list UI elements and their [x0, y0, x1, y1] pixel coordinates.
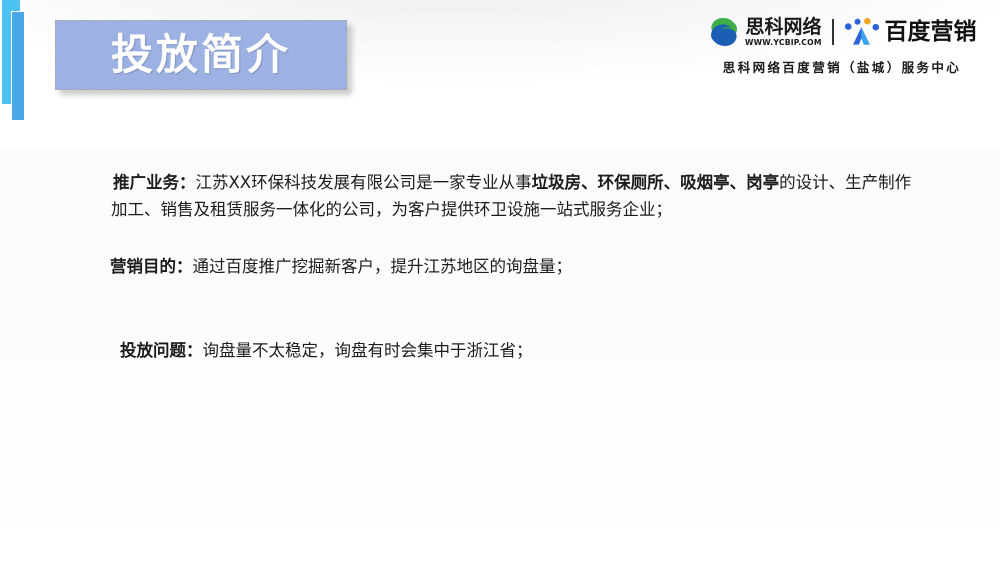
decor-bar-blue [11, 11, 25, 121]
paragraph-2-text: 通过百度推广挖掘新客户，提升江苏地区的询盘量； [193, 257, 573, 276]
paragraph-1-label: 推广业务 [113, 173, 179, 192]
logo-row: 思科网络 WWW.YCBIP.COM 百度营销 [692, 12, 992, 52]
paragraph-1-text-post: 的设计、生产制作 [779, 173, 911, 192]
paragraph-1-colon: ： [179, 173, 196, 192]
siko-wordmark: 思科网络 WWW.YCBIP.COM [745, 18, 821, 47]
baidu-paw-icon [844, 17, 880, 47]
paragraph-2-colon: ： [176, 257, 193, 276]
paragraph-3-label: 投放问题 [120, 341, 186, 360]
slide-title-plate: 投放简介 [55, 20, 347, 90]
logo-separator [832, 19, 834, 45]
slide-canvas: 投放简介 思科网络 WWW.YCBIP.COM [0, 0, 1000, 563]
page-title: 投放简介 [111, 34, 291, 76]
siko-swirl-icon [707, 15, 741, 49]
header-logo-lockup: 思科网络 WWW.YCBIP.COM 百度营销 思科网络百度营销（盐城）服务中心 [692, 12, 992, 76]
paragraph-marketing-goal: 营销目的：通过百度推广挖掘新客户，提升江苏地区的询盘量； [110, 253, 572, 280]
paragraph-campaign-issue: 投放问题：询盘量不太稳定，询盘有时会集中于浙江省； [120, 337, 533, 364]
logo-subtitle: 思科网络百度营销（盐城）服务中心 [723, 57, 961, 76]
siko-url: WWW.YCBIP.COM [745, 39, 823, 47]
paragraph-1-text-pre: 江苏XX环保科技发展有限公司是一家专业从事 [196, 173, 532, 192]
paragraph-promotion-business: 推广业务：江苏XX环保科技发展有限公司是一家专业从事垃圾房、环保厕所、吸烟亭、岗… [113, 169, 958, 223]
siko-name: 思科网络 [745, 18, 821, 37]
paragraph-3-colon: ： [186, 341, 203, 360]
baidu-logo: 百度营销 [844, 17, 977, 47]
paragraph-3-text: 询盘量不太稳定，询盘有时会集中于浙江省； [203, 341, 533, 360]
paragraph-2-label: 营销目的 [110, 257, 176, 276]
paragraph-1-text-emphasis: 垃圾房、环保厕所、吸烟亭、岗亭 [532, 173, 780, 192]
baidu-name: 百度营销 [885, 21, 977, 44]
siko-logo: 思科网络 WWW.YCBIP.COM [707, 15, 821, 49]
paragraph-1-line2: 加工、销售及租赁服务一体化的公司，为客户提供环卫设施一站式服务企业； [111, 196, 958, 223]
